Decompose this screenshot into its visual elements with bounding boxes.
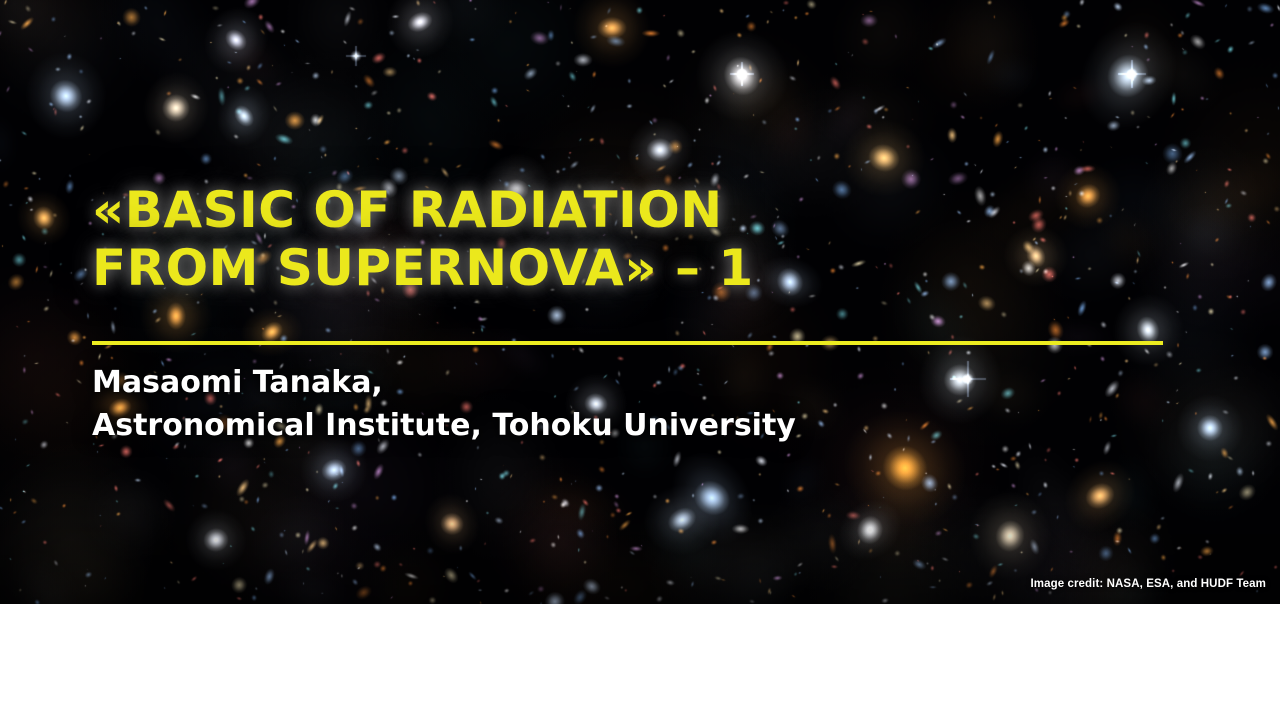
footer-bar: B S I S Theoretical Physics and Mathemat… — [0, 604, 1280, 720]
title-block: «BASIC OF RADIATION FROM SUPERNOVA» – 1 — [92, 182, 1172, 297]
hero-image-area: «BASIC OF RADIATION FROM SUPERNOVA» – 1 … — [0, 0, 1280, 604]
hubble-deep-field-background — [0, 0, 1280, 604]
image-credit-text: Image credit: NASA, ESA, and HUDF Team — [1030, 578, 1266, 590]
title-divider-rule — [92, 341, 1163, 345]
page-title: «BASIC OF RADIATION FROM SUPERNOVA» – 1 — [92, 182, 1172, 297]
author-block: Masaomi Tanaka, Astronomical Institute, … — [92, 362, 1172, 447]
author-affiliation-text: Masaomi Tanaka, Astronomical Institute, … — [92, 362, 1172, 447]
title-slide: «BASIC OF RADIATION FROM SUPERNOVA» – 1 … — [0, 0, 1280, 720]
